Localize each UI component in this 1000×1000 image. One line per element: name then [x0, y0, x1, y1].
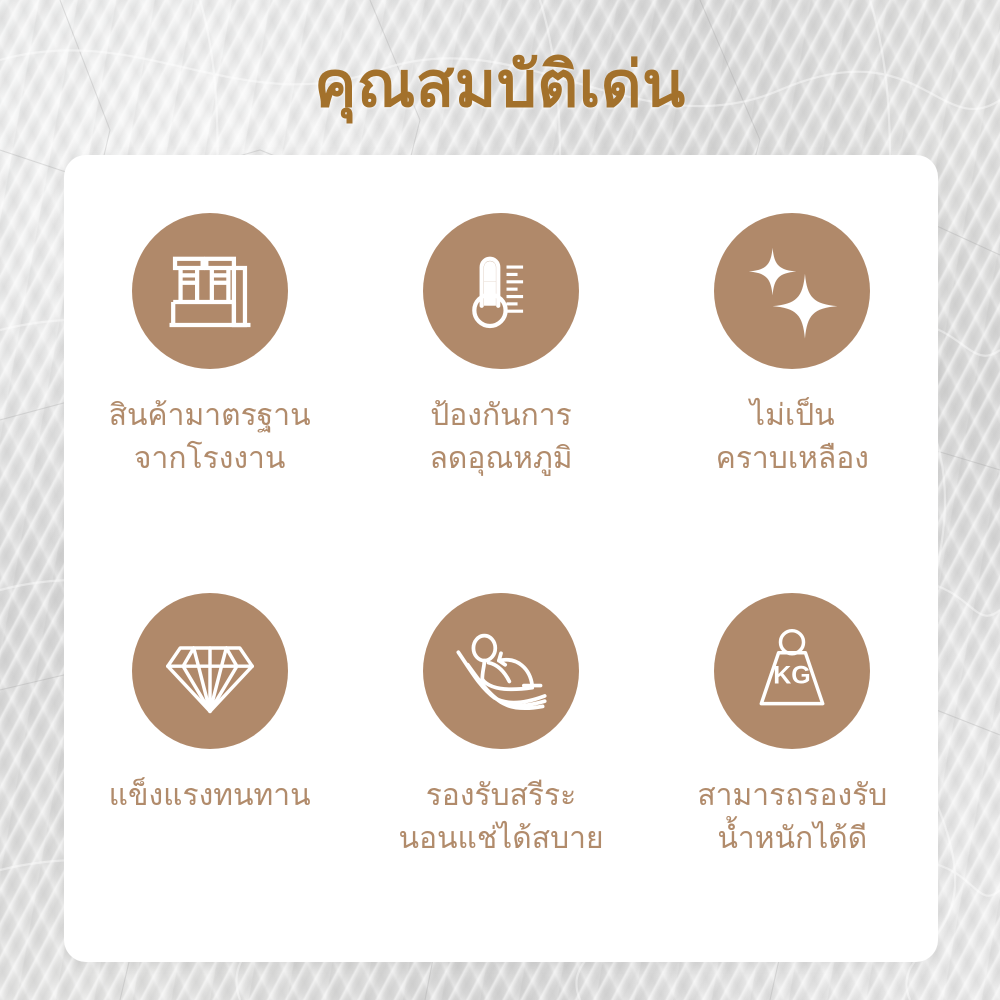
feature-label: สินค้ามาตรฐาน จากโรงงาน — [103, 395, 317, 480]
feature-label: ไม่เป็น คราบเหลือง — [710, 395, 875, 480]
icon-circle — [423, 593, 579, 749]
factory-icon — [164, 245, 256, 337]
weight-kg-label: KG — [774, 661, 811, 689]
feature-item-temperature[interactable]: ป้องกันการ ลดอุณหภูมิ — [355, 185, 646, 565]
feature-label: ป้องกันการ ลดอุณหภูมิ — [423, 395, 578, 480]
feature-item-no-yellow-stain[interactable]: ไม่เป็น คราบเหลือง — [647, 185, 938, 565]
weight-kg-icon: KG — [744, 623, 840, 719]
features-grid: สินค้ามาตรฐาน จากโรงงาน — [64, 185, 938, 945]
icon-circle — [132, 593, 288, 749]
feature-label: แข็งแรงทนทาน — [103, 775, 317, 818]
diamond-icon — [162, 623, 258, 719]
icon-circle — [423, 213, 579, 369]
thermometer-icon — [455, 245, 547, 337]
icon-circle: KG — [714, 593, 870, 749]
feature-item-standard-factory[interactable]: สินค้ามาตรฐาน จากโรงงาน — [64, 185, 355, 565]
promo-graphic-page: คุณสมบัติเด่น — [0, 0, 1000, 1000]
sparkle-icon — [738, 237, 846, 345]
feature-label: รองรับสรีระ นอนแช่ได้สบาย — [392, 775, 609, 860]
icon-circle — [132, 213, 288, 369]
page-title: คุณสมบัติเด่น — [0, 52, 1000, 118]
icon-circle — [714, 213, 870, 369]
feature-item-weight-capacity[interactable]: KG สามารถรองรับ น้ำหนักได้ดี — [647, 565, 938, 945]
feature-item-ergonomic[interactable]: รองรับสรีระ นอนแช่ได้สบาย — [355, 565, 646, 945]
person-reclining-bathtub-icon — [449, 619, 553, 723]
feature-label: สามารถรองรับ น้ำหนักได้ดี — [691, 775, 893, 860]
feature-item-durable[interactable]: แข็งแรงทนทาน — [64, 565, 355, 945]
